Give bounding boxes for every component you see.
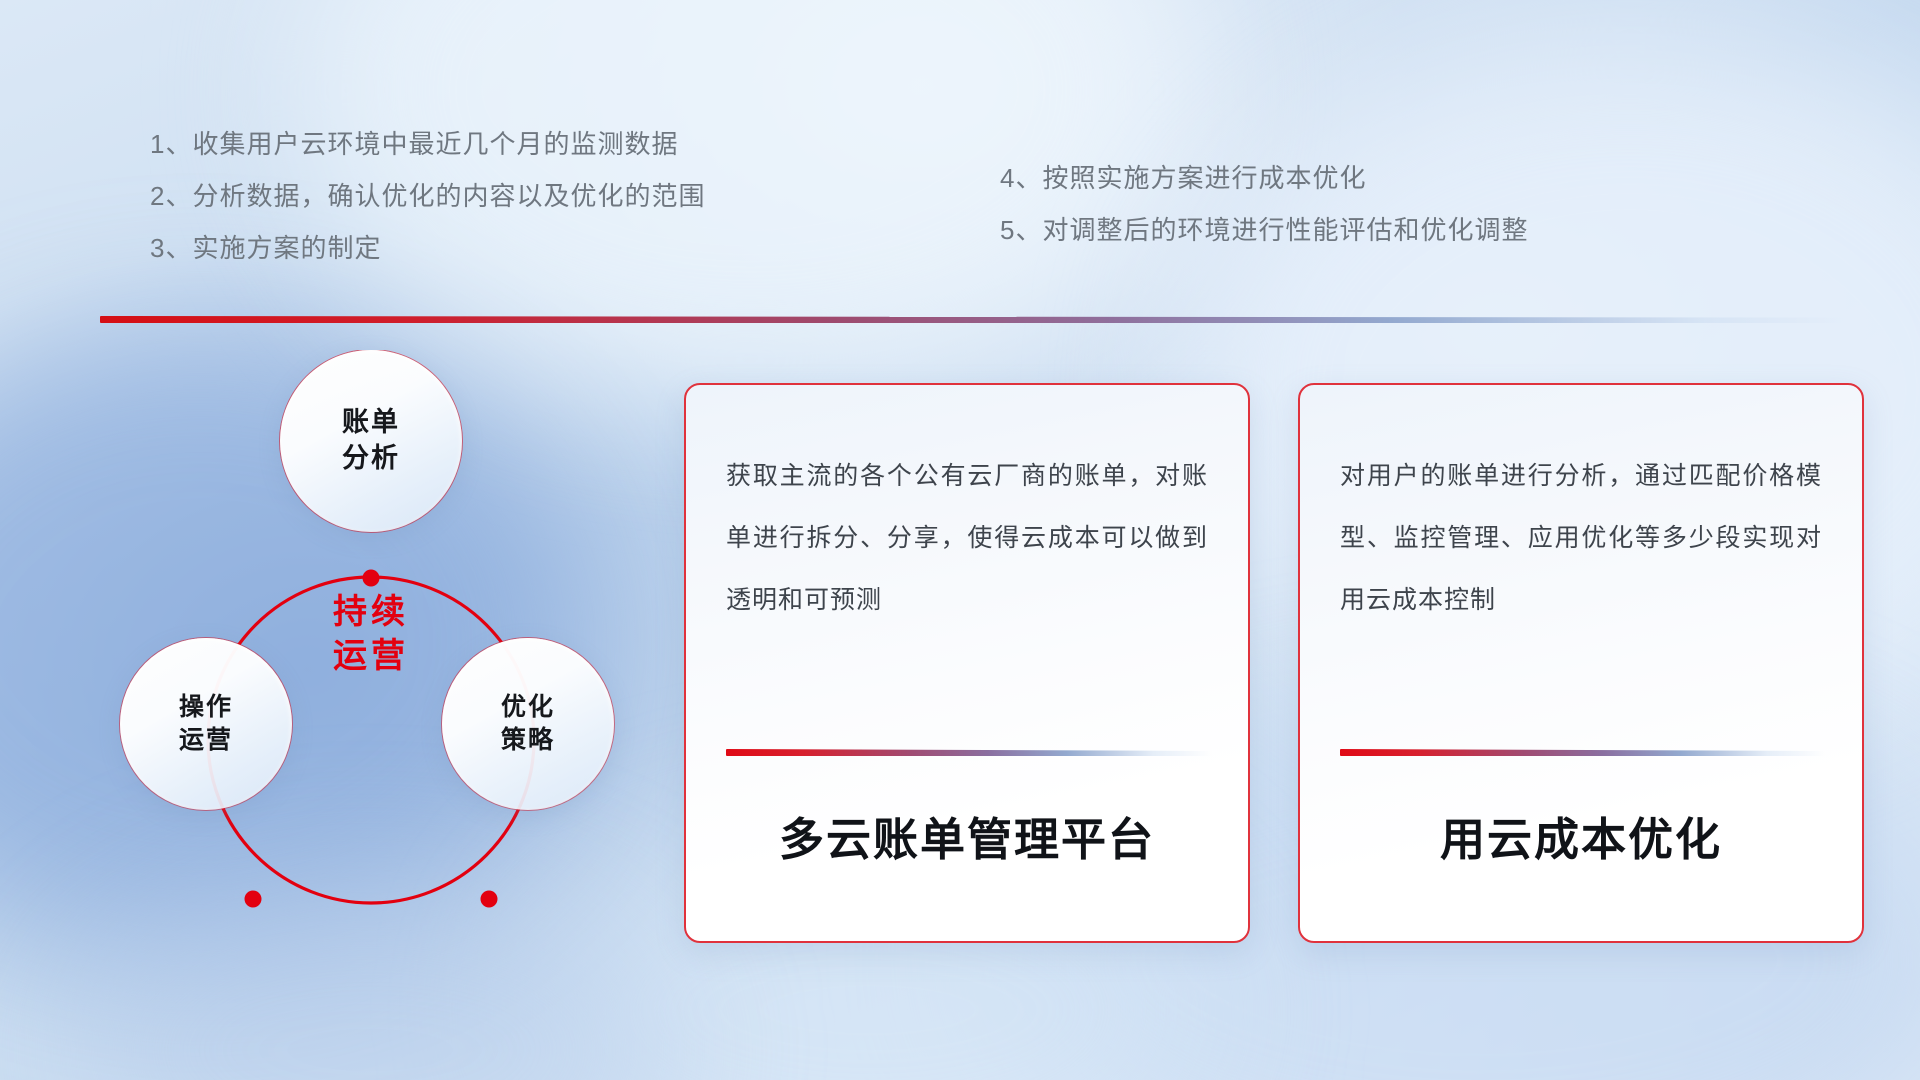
venn-bubble-line-1: 账单 (342, 405, 400, 441)
venn-node-right (481, 891, 498, 908)
venn-bubble-line-1: 优化 (501, 691, 555, 724)
step-item-2: 2、分析数据，确认优化的内容以及优化的范围 (150, 170, 705, 222)
header-divider (100, 316, 1845, 323)
step-item-4: 4、按照实施方案进行成本优化 (1000, 152, 1528, 204)
slide-canvas: 1、收集用户云环境中最近几个月的监测数据 2、分析数据，确认优化的内容以及优化的… (0, 0, 1920, 1080)
venn-bubble-optimization-strategy[interactable]: 优化 策略 (442, 638, 614, 810)
venn-bubble-line-1: 操作 (179, 691, 233, 724)
venn-node-left (245, 891, 262, 908)
steps-list-right: 4、按照实施方案进行成本优化 5、对调整后的环境进行性能评估和优化调整 (1000, 152, 1528, 256)
venn-center-line-2: 运营 (333, 635, 409, 679)
card-divider (1340, 749, 1826, 756)
card-divider (726, 749, 1212, 756)
venn-center-label: 持续 运营 (280, 530, 462, 740)
card-title: 用云成本优化 (1300, 803, 1862, 868)
step-item-5: 5、对调整后的环境进行性能评估和优化调整 (1000, 204, 1528, 256)
venn-bubble-operation-ops[interactable]: 操作 运营 (120, 638, 292, 810)
venn-bubble-line-2: 分析 (342, 441, 400, 477)
steps-list-left: 1、收集用户云环境中最近几个月的监测数据 2、分析数据，确认优化的内容以及优化的… (150, 118, 705, 274)
card-multi-cloud-bill-platform[interactable]: 获取主流的各个公有云厂商的账单，对账单进行拆分、分享，使得云成本可以做到透明和可… (684, 383, 1250, 943)
step-item-1: 1、收集用户云环境中最近几个月的监测数据 (150, 118, 705, 170)
venn-bubble-line-2: 运营 (179, 724, 233, 757)
venn-diagram: 账单 分析 操作 运营 优化 策略 持续 运营 (90, 350, 650, 950)
card-cloud-cost-optimization[interactable]: 对用户的账单进行分析，通过匹配价格模型、监控管理、应用优化等多少段实现对用云成本… (1298, 383, 1864, 943)
venn-bubble-line-2: 策略 (501, 724, 555, 757)
step-item-3: 3、实施方案的制定 (150, 222, 705, 274)
card-body-text: 对用户的账单进行分析，通过匹配价格模型、监控管理、应用优化等多少段实现对用云成本… (1340, 445, 1822, 631)
card-body-text: 获取主流的各个公有云厂商的账单，对账单进行拆分、分享，使得云成本可以做到透明和可… (726, 445, 1208, 631)
venn-bubble-bill-analysis[interactable]: 账单 分析 (280, 350, 462, 532)
card-title: 多云账单管理平台 (686, 803, 1248, 868)
venn-center-line-1: 持续 (333, 591, 409, 635)
